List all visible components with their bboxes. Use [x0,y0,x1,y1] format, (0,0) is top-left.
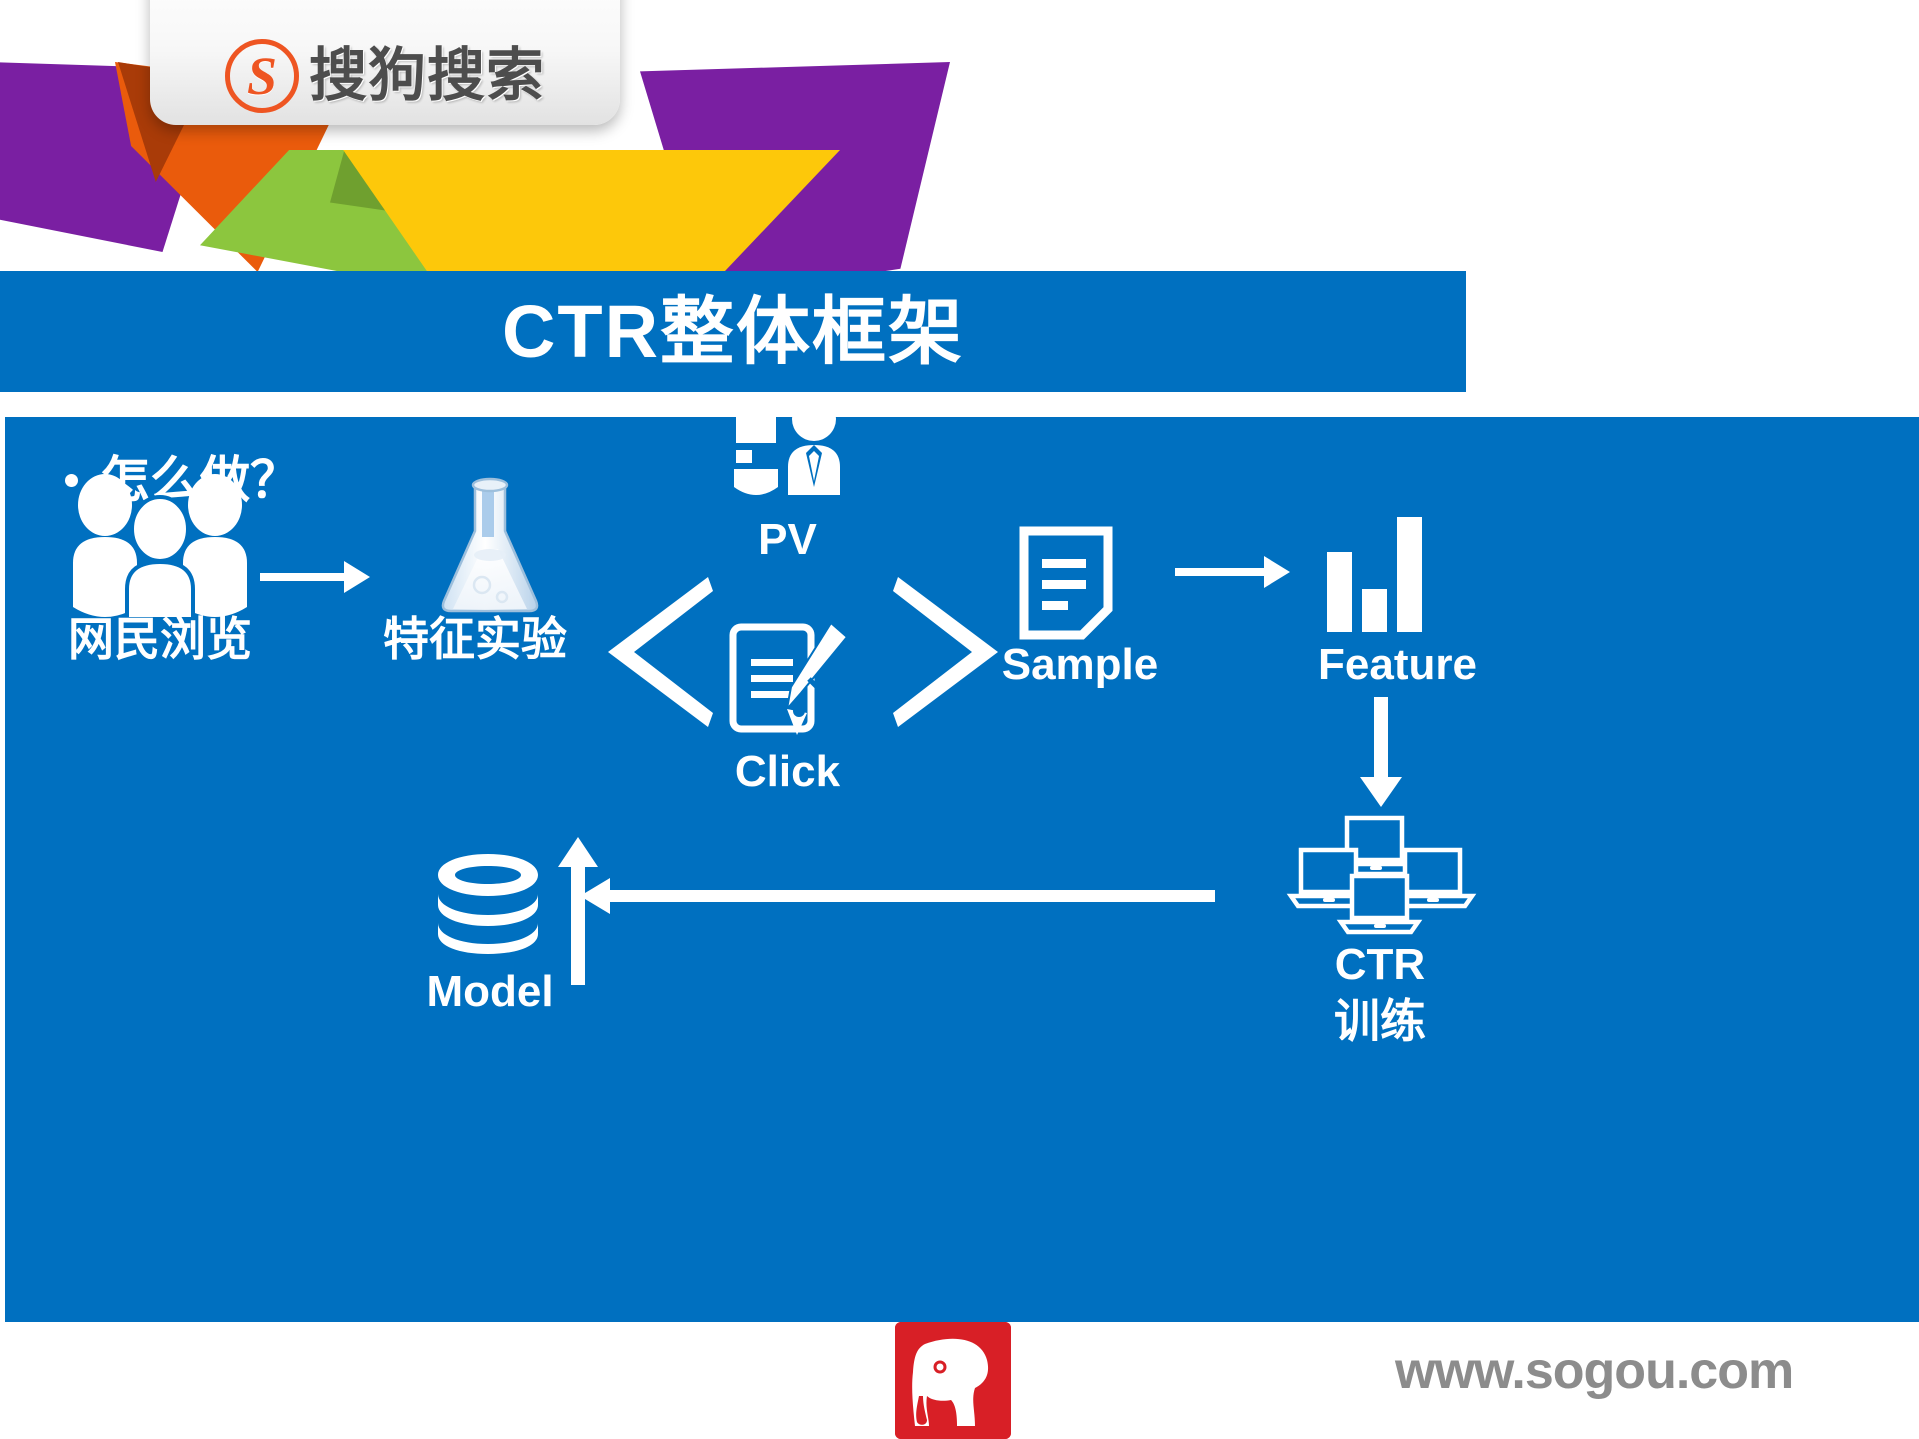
bar-chart-icon [1325,517,1425,632]
document-pen-icon [723,617,853,742]
elephant-logo-icon [895,1322,1011,1439]
document-lines-icon [1020,527,1112,639]
header-decoration-band: S 搜狗搜索 [0,0,1919,272]
page-title: CTR整体框架 [502,295,964,369]
node-label-ctr-train-line2: 训练 [1265,997,1495,1045]
people-group-icon [65,477,255,617]
footer-website-url: www.sogou.com [1395,1345,1793,1397]
database-stack-icon [435,854,541,954]
node-label-feature: Feature [1290,642,1505,688]
node-label-ctr-train-line1: CTR [1265,942,1495,988]
sogou-s-icon: S [225,39,299,113]
arrow-right-icon [1175,552,1290,592]
sogou-logo-plate: S 搜狗搜索 [150,0,620,125]
node-label-users: 网民浏览 [35,615,285,663]
user-monitor-icon [730,395,845,500]
arrow-down-icon [1360,697,1402,807]
slide-content-panel: 怎么做？ 网民浏览 [5,417,1919,1322]
node-label-pv: PV [705,517,870,563]
slide-title-bar: CTR整体框架 [0,271,1466,392]
flask-icon [430,475,550,615]
node-label-sample: Sample [975,642,1185,688]
node-label-click: Click [695,749,880,795]
node-label-feature-experiment: 特征实验 [345,615,605,663]
sogou-logo-text: 搜狗搜索 [309,47,545,105]
chevron-left-icon [608,577,713,727]
arrow-left-icon [580,877,1215,915]
arrow-right-icon [260,557,370,597]
arrow-up-icon [558,837,598,985]
computer-cluster-icon [1295,812,1470,937]
